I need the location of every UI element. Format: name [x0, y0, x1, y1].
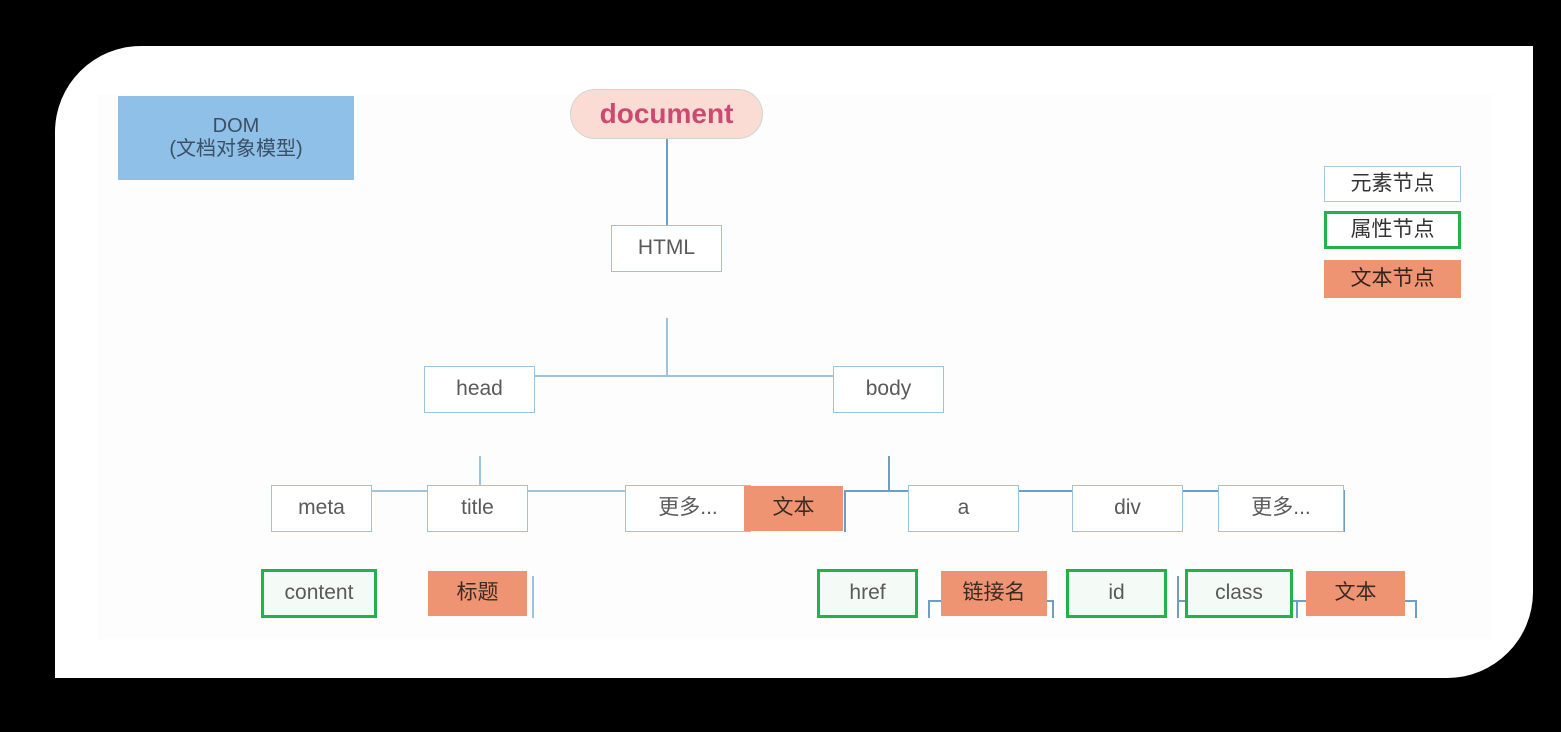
- node-html-label: HTML: [638, 236, 695, 260]
- node-class[interactable]: class: [1185, 569, 1293, 618]
- node-id-label: id: [1108, 581, 1124, 605]
- dom-title-line-1: DOM: [213, 115, 260, 138]
- node-div-text-label: 文本: [1335, 581, 1377, 605]
- legend-label-element-node: 元素节点: [1351, 172, 1435, 196]
- node-class-label: class: [1215, 581, 1263, 605]
- node-href[interactable]: href: [817, 569, 918, 618]
- node-meta-label: meta: [298, 496, 345, 520]
- connector-body-down: [888, 456, 890, 491]
- node-meta[interactable]: meta: [271, 485, 372, 532]
- node-content[interactable]: content: [261, 569, 377, 618]
- legend-item-text-node: 文本节点: [1324, 260, 1461, 298]
- connector-div-down: [1177, 576, 1179, 601]
- dom-title-line-2: (文档对象模型): [169, 138, 302, 161]
- node-div[interactable]: div: [1072, 485, 1183, 532]
- node-head-more[interactable]: 更多...: [625, 485, 751, 532]
- dom-title-block: DOM (文档对象模型): [118, 96, 354, 180]
- node-body-label: body: [866, 377, 912, 401]
- connector-bus-to-body-text: [844, 490, 846, 532]
- node-div-label: div: [1114, 496, 1141, 520]
- node-head[interactable]: head: [424, 366, 535, 413]
- legend-item-element-node: 元素节点: [1324, 166, 1461, 202]
- node-div-text[interactable]: 文本: [1306, 571, 1405, 616]
- node-title-label: title: [461, 496, 494, 520]
- connector-html-down: [666, 318, 668, 375]
- node-document[interactable]: document: [570, 89, 763, 139]
- node-a[interactable]: a: [908, 485, 1019, 532]
- connector-bus-to-href: [928, 600, 930, 618]
- screenshot-stage: DOM (文档对象模型) 元素节点 属性节点 文本节点: [0, 0, 1561, 732]
- connector-title-to-text: [532, 576, 534, 618]
- node-body-text[interactable]: 文本: [744, 486, 843, 531]
- node-link-name-label: 链接名: [963, 581, 1026, 605]
- node-html[interactable]: HTML: [611, 225, 722, 272]
- node-link-name[interactable]: 链接名: [941, 571, 1047, 616]
- node-body[interactable]: body: [833, 366, 944, 413]
- node-title[interactable]: title: [427, 485, 528, 532]
- connector-bus-to-linkname: [1052, 600, 1054, 618]
- diagram-card: DOM (文档对象模型) 元素节点 属性节点 文本节点: [55, 46, 1533, 678]
- node-body-more-label: 更多...: [1251, 496, 1311, 520]
- legend-label-attribute-node: 属性节点: [1351, 218, 1435, 242]
- legend-item-attribute-node: 属性节点: [1324, 211, 1461, 249]
- node-content-label: content: [285, 581, 354, 605]
- node-a-label: a: [958, 496, 970, 520]
- node-head-more-label: 更多...: [658, 496, 718, 520]
- node-title-text[interactable]: 标题: [428, 571, 527, 616]
- node-body-more[interactable]: 更多...: [1218, 485, 1344, 532]
- connector-bus-to-id: [1177, 600, 1179, 618]
- node-head-label: head: [456, 377, 503, 401]
- node-document-label: document: [600, 98, 734, 130]
- legend-label-text-node: 文本节点: [1351, 267, 1435, 291]
- node-href-label: href: [849, 581, 885, 605]
- node-title-text-label: 标题: [457, 581, 499, 605]
- connector-bus-to-class: [1296, 600, 1298, 618]
- node-body-text-label: 文本: [773, 496, 815, 520]
- node-id[interactable]: id: [1066, 569, 1167, 618]
- connector-bus-to-div-text: [1415, 600, 1417, 618]
